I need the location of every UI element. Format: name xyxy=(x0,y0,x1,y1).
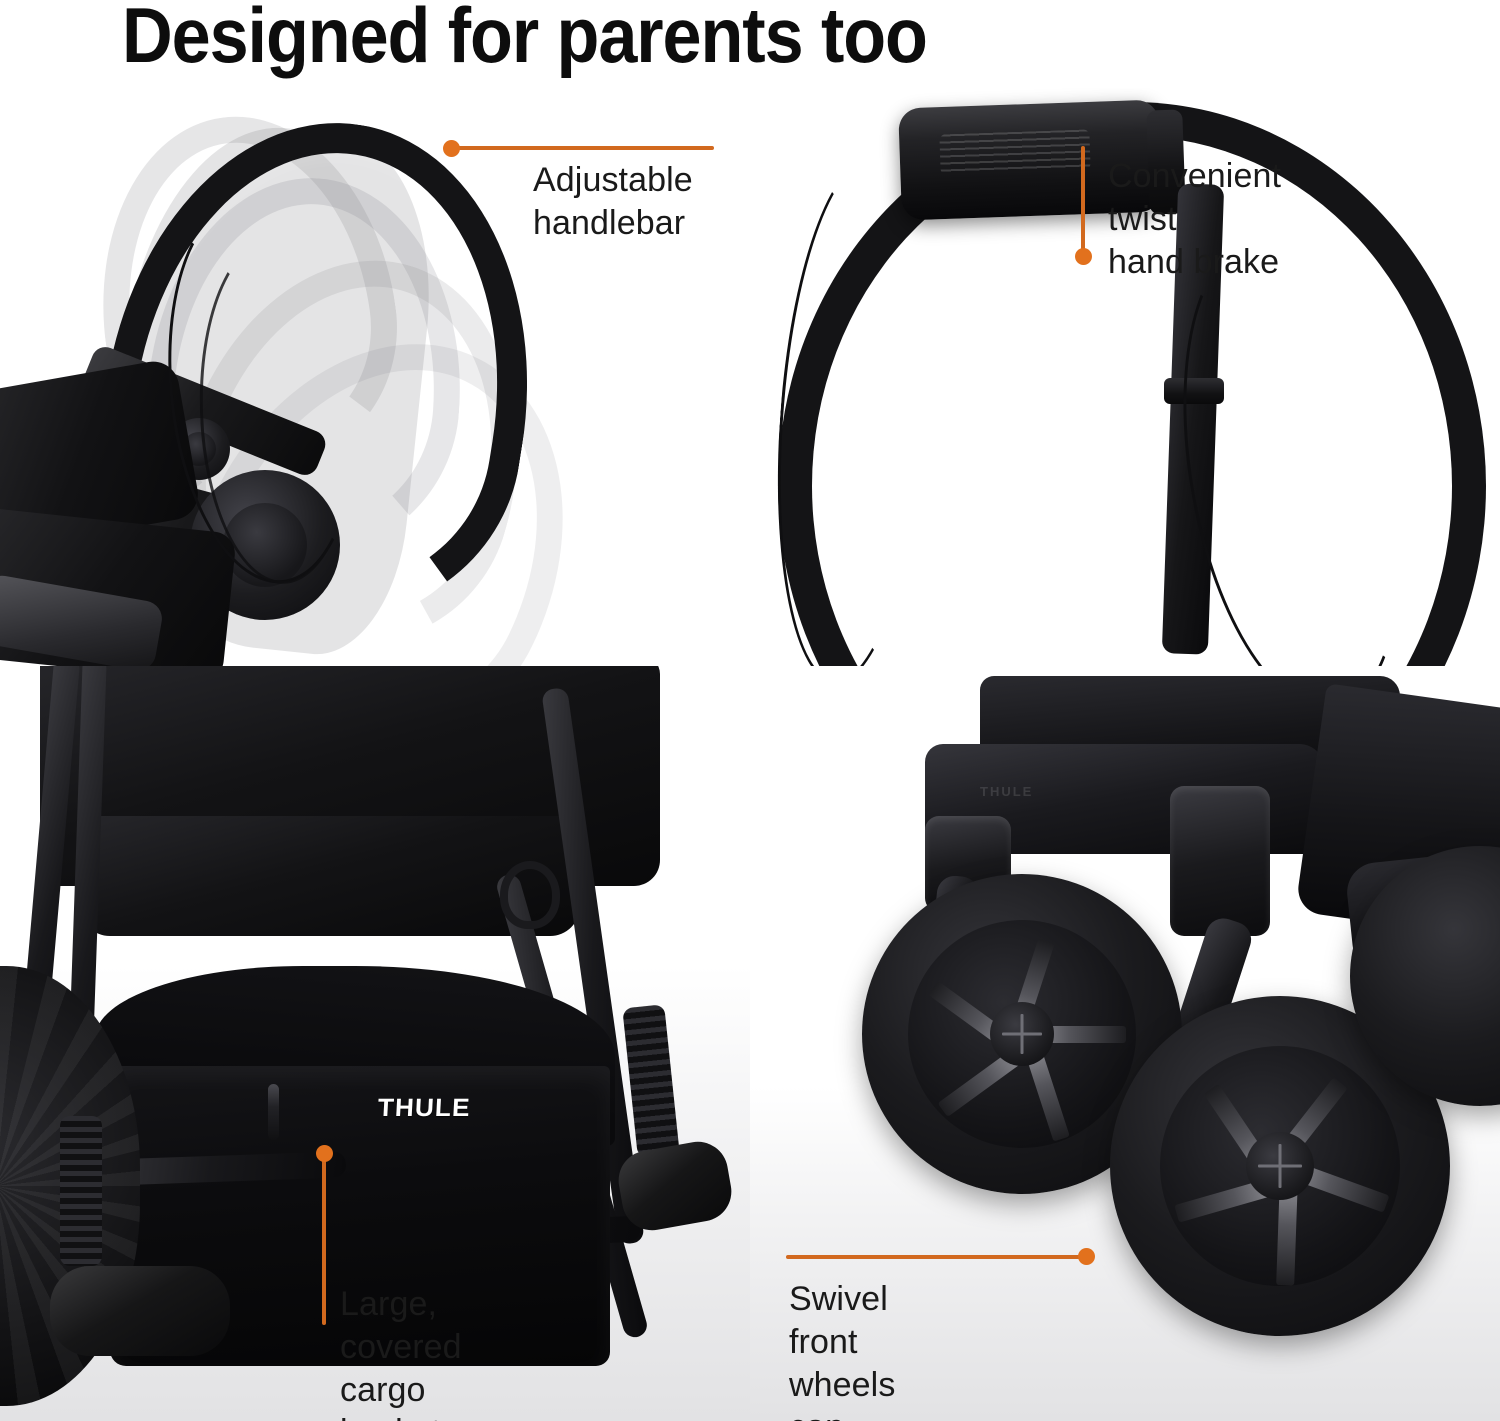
thule-logo: THULE xyxy=(377,1094,471,1123)
leader-dot xyxy=(1078,1248,1095,1265)
hub-bolt-left xyxy=(990,1002,1054,1066)
twist-grip-ribs xyxy=(939,129,1090,174)
hub-bolt-right xyxy=(1246,1132,1314,1200)
leader-line xyxy=(1081,146,1085,256)
d-ring-attachment xyxy=(500,861,560,929)
thule-emboss: THULE xyxy=(980,784,1033,799)
basket-zipper-pull xyxy=(268,1084,279,1140)
swivel-lock-housing-right xyxy=(1170,786,1270,936)
rear-axle-housing xyxy=(50,1266,230,1356)
product-feature-infographic: Designed for parents too xyxy=(0,0,1500,1421)
callout-label: Convenient twist hand brake xyxy=(1108,155,1281,283)
leader-line xyxy=(786,1255,1086,1259)
leader-dot xyxy=(316,1145,333,1162)
leader-dot xyxy=(443,140,460,157)
leader-dot xyxy=(1075,248,1092,265)
callout-label: Adjustable handlebar xyxy=(533,159,693,245)
leader-line xyxy=(452,146,714,150)
callout-label: Swivel front wheels can lock for jogging xyxy=(789,1278,899,1421)
callout-label: Large, covered cargo basket xyxy=(340,1283,462,1421)
leader-line xyxy=(322,1153,326,1325)
page-title: Designed for parents too xyxy=(122,0,927,74)
suspension-boot-left xyxy=(60,1116,102,1266)
